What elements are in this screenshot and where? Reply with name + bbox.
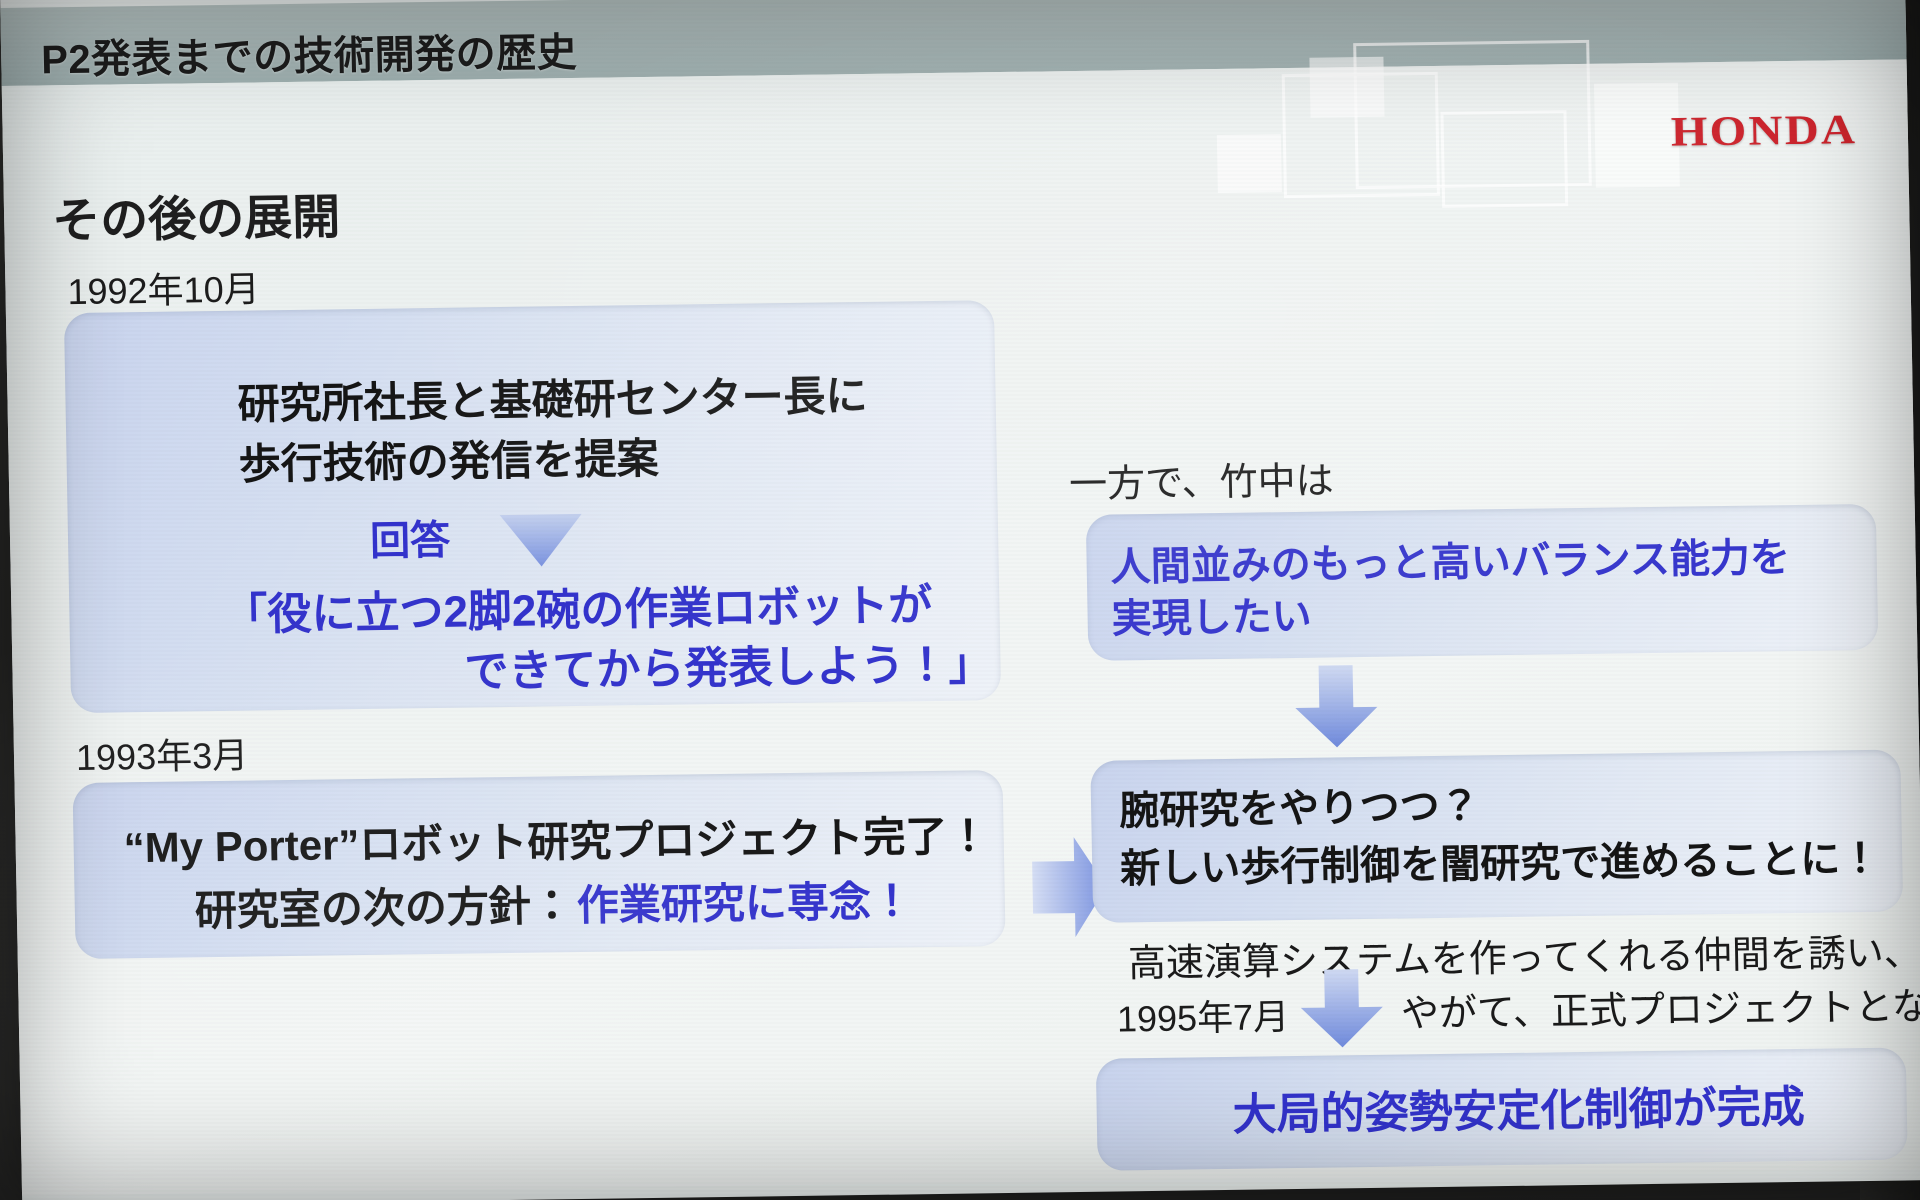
left-box-2-line-2-blue: 作業研究に専念！ (576, 867, 913, 933)
decor-square-fill-3 (1217, 134, 1282, 193)
slide-subtitle: その後の展開 (51, 177, 340, 251)
decor-square-fill-1 (1309, 57, 1384, 118)
right-intro-text: 一方で、竹中は (1069, 449, 1334, 508)
arrow-down-icon (496, 510, 587, 571)
right-box-1-line-2: 実現したい (1111, 584, 1312, 645)
decor-square-fill-2 (1594, 83, 1680, 188)
right-note-line-2: やがて、正式プロジェクトとなり、 (1400, 974, 1920, 1037)
arrow-down-icon (1296, 967, 1387, 1050)
right-box-1-line-1: 人間並みのもっと高いバランス能力を (1110, 525, 1790, 592)
right-box-2-line-1: 腕研究をやりつつ？ (1119, 773, 1480, 836)
date-label-1995-07: 1995年7月 (1116, 988, 1289, 1042)
right-box-3-line-1: 大局的姿勢安定化制御が完成 (1232, 1071, 1805, 1143)
presentation-slide: P2発表までの技術開発の歴史 HONDA その後の展開 1992年10月 研究所… (0, 0, 1920, 1200)
date-label-1993-03: 1993年3月 (76, 727, 249, 781)
left-box-2-line-1: “My Porter”ロボット研究プロジェクト完了！ (123, 802, 990, 875)
honda-logo: HONDA (1670, 106, 1857, 157)
right-box-2-line-2: 新しい歩行制御を闇研究で進めることに！ (1120, 826, 1881, 895)
left-box-1-line-2: 歩行技術の発信を提案 (238, 425, 659, 492)
photographed-slide-scene: P2発表までの技術開発の歴史 HONDA その後の展開 1992年10月 研究所… (0, 0, 1920, 1200)
arrow-down-icon (1291, 663, 1383, 750)
slide-body: HONDA その後の展開 1992年10月 研究所社長と基礎研センター長に 歩行… (2, 59, 1920, 1195)
decor-square-outline-3 (1440, 110, 1568, 208)
left-box-2-line-2-black: 研究室の次の方針： (194, 872, 573, 938)
date-label-1992-10: 1992年10月 (67, 260, 260, 315)
left-box-1-quote-2: できてから発表しよう！」 (464, 628, 993, 699)
left-box-1-line-1: 研究所社長と基礎研センター長に (237, 362, 868, 432)
answer-label: 回答 (370, 508, 451, 567)
slide-title: P2発表までの技術開発の歴史 (41, 20, 578, 85)
